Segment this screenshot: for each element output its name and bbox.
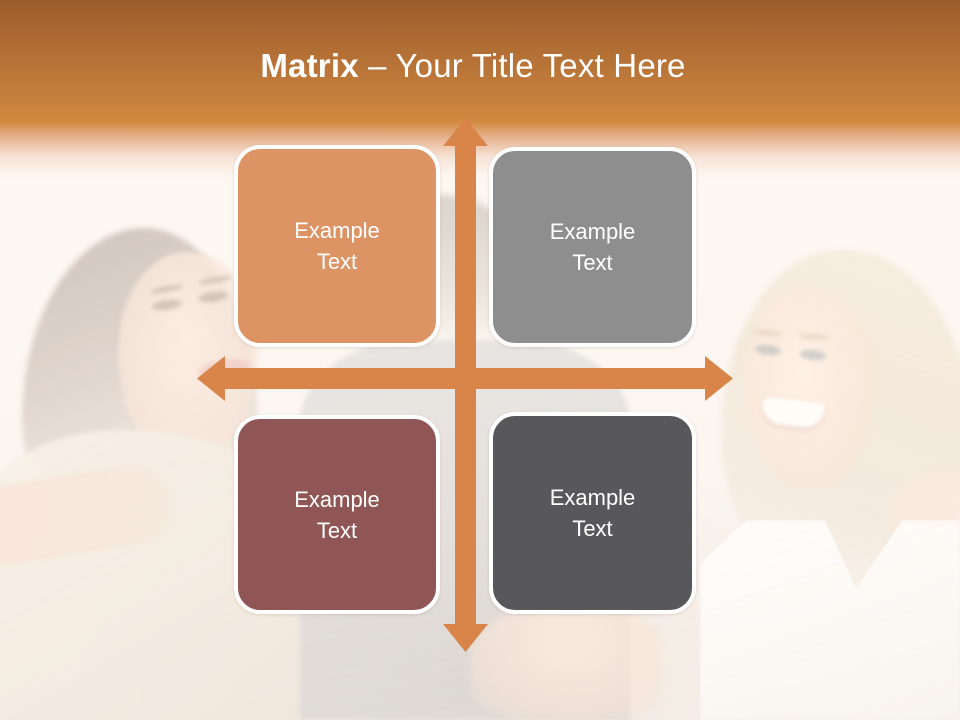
arrow-right-icon xyxy=(705,356,733,401)
quadrant-top-left-label: ExampleText xyxy=(280,215,394,277)
quadrant-bottom-left-label: ExampleText xyxy=(280,484,394,546)
quadrant-bottom-right-line2: Text xyxy=(572,516,612,541)
arrow-left-icon xyxy=(197,356,225,401)
quadrant-top-right-label: ExampleText xyxy=(536,216,650,278)
quadrant-bottom-right-label: ExampleText xyxy=(536,482,650,544)
quadrant-bottom-right[interactable]: ExampleText xyxy=(489,412,696,614)
quadrant-top-right-line2: Text xyxy=(572,250,612,275)
slide-canvas: Matrix – Your Title Text Here ExampleTex… xyxy=(0,0,960,720)
quadrant-top-left-line1: Example xyxy=(294,218,380,243)
quadrant-bottom-left[interactable]: ExampleText xyxy=(234,415,440,614)
quadrant-bottom-right-line1: Example xyxy=(550,485,636,510)
quadrant-top-right[interactable]: ExampleText xyxy=(489,147,696,347)
quadrant-top-left-line2: Text xyxy=(317,249,357,274)
arrow-up-icon xyxy=(443,118,488,146)
arrow-down-icon xyxy=(443,624,488,652)
matrix-axis-arrows xyxy=(0,0,960,720)
quadrant-bottom-left-line1: Example xyxy=(294,487,380,512)
quadrant-bottom-left-line2: Text xyxy=(317,518,357,543)
quadrant-top-left[interactable]: ExampleText xyxy=(234,145,440,347)
quadrant-top-right-line1: Example xyxy=(550,219,636,244)
